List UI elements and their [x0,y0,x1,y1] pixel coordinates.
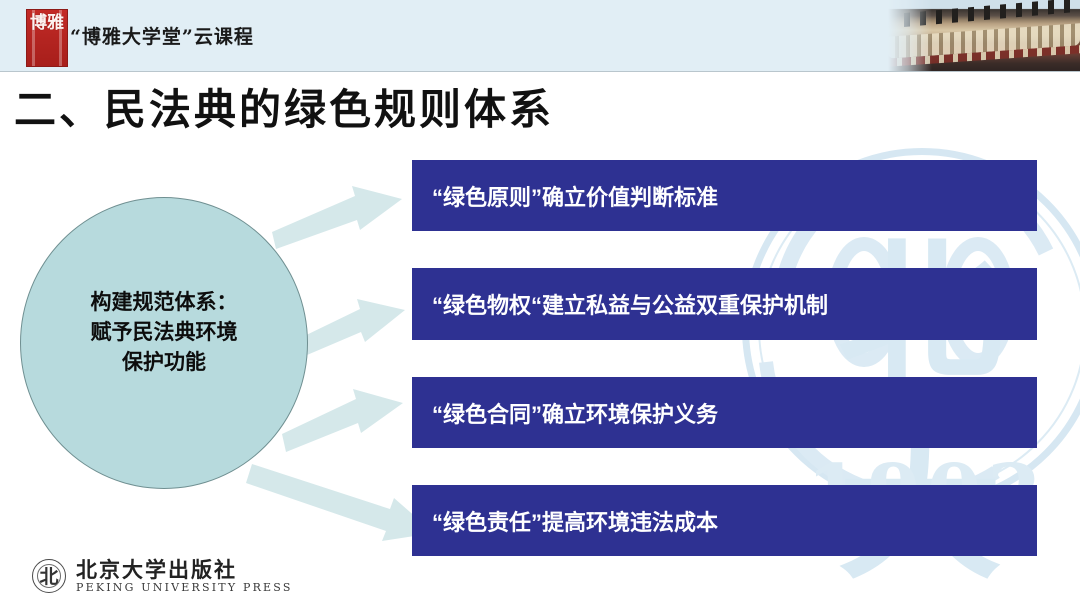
publisher-logo: 北 北京大学出版社 PEKING UNIVERSITY PRESS [32,554,293,598]
content-bar-2[interactable]: “绿色物权“建立私益与公益双重保护机制 [412,268,1037,340]
hub-line-1: 构建规范体系： [21,288,307,318]
hub-circle: 构建规范体系： 赋予民法典环境 保护功能 [20,197,308,489]
content-bar-1[interactable]: “绿色原则”确立价值判断标准 [412,160,1037,231]
pku-press-seal-mark: 北 [33,564,65,592]
publisher-name-cn: 北京大学出版社 [76,558,293,581]
content-bar-3-label: “绿色合同”确立环境保护义务 [412,397,718,429]
pku-press-seal-icon: 北 [32,559,66,593]
slide-canvas: 博雅 “博雅大学堂”云课程 二、民法典的绿色规则体系 北大 1902 [0,0,1080,607]
content-bar-1-label: “绿色原则”确立价值判断标准 [412,180,718,212]
hub-label: 构建规范体系： 赋予民法典环境 保护功能 [21,288,307,378]
publisher-name-en: PEKING UNIVERSITY PRESS [76,581,293,595]
content-bar-2-label: “绿色物权“建立私益与公益双重保护机制 [412,288,828,320]
content-bar-4-label: “绿色责任”提高环境违法成本 [412,505,718,537]
hub-line-2: 赋予民法典环境 [21,318,307,348]
arrow-to-bar-3 [282,389,403,452]
publisher-names: 北京大学出版社 PEKING UNIVERSITY PRESS [76,558,293,595]
arrow-to-bar-4 [246,464,434,541]
content-bar-3[interactable]: “绿色合同”确立环境保护义务 [412,377,1037,448]
content-bar-4[interactable]: “绿色责任”提高环境违法成本 [412,485,1037,556]
arrow-to-bar-1 [272,186,402,249]
arrow-to-bar-2 [296,299,405,358]
hub-line-3: 保护功能 [21,348,307,378]
